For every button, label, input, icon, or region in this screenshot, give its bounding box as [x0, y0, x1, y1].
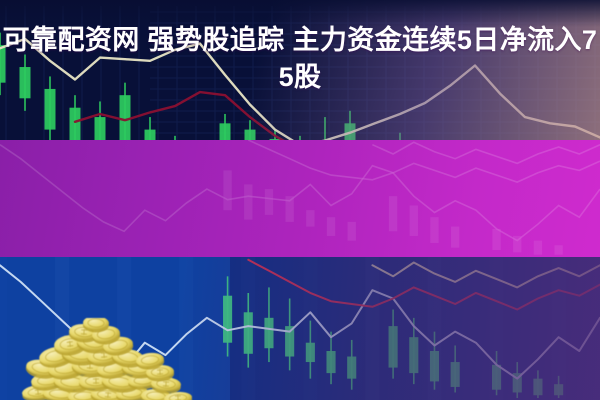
banner-title: 可靠配资网 强势股追踪 主力资金连续5日净流入7 5股: [0, 0, 600, 117]
title-band: [0, 140, 600, 257]
gold-coins-icon: [8, 318, 208, 400]
title-line-2: 5股: [279, 61, 322, 94]
bottom-chart-panel: [0, 256, 600, 400]
banner-image: 可靠配资网 强势股追踪 主力资金连续5日净流入7 5股: [0, 0, 600, 400]
title-line-1: 可靠配资网 强势股追踪 主力资金连续5日净流入7: [3, 24, 598, 57]
title-band-ghost-chart: [0, 140, 600, 257]
